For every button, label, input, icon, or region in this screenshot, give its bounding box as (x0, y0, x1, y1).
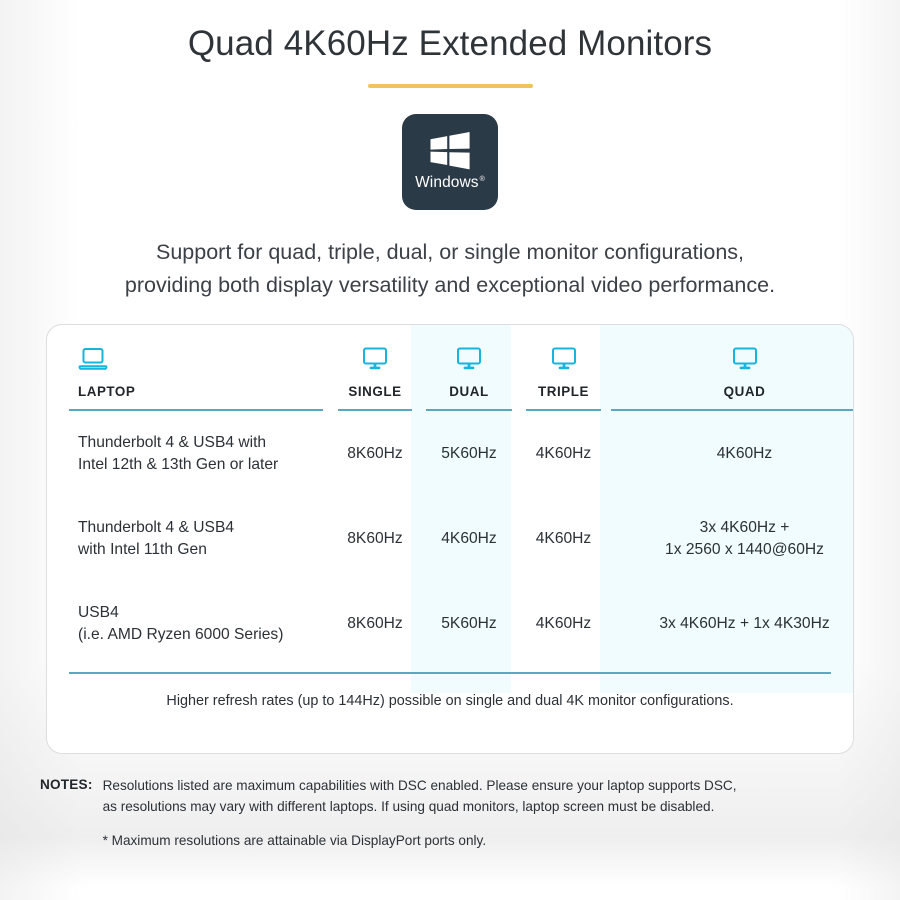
table-header: LAPTOP (69, 347, 854, 411)
row-1-quad-line-2: 1x 2560 x 1440@60Hz (610, 539, 854, 561)
table-footnote: Higher refresh rates (up to 144Hz) possi… (69, 674, 831, 711)
page-title: Quad 4K60Hz Extended Monitors (0, 0, 900, 65)
trademark-mark: ® (480, 176, 485, 183)
notes-line-2: as resolutions may vary with different l… (103, 797, 854, 818)
row-0-quad-cell: 4K60Hz (608, 411, 854, 496)
row-0-triple-cell: 4K60Hz (519, 411, 608, 496)
row-2-dual-cell: 5K60Hz (419, 581, 519, 666)
table-row: USB4 (i.e. AMD Ryzen 6000 Series) 8K60Hz… (69, 581, 854, 666)
column-header-dual: DUAL (419, 347, 519, 411)
column-header-triple-label: TRIPLE (538, 384, 589, 399)
row-2-laptop-line-1: USB4 (78, 602, 325, 624)
notes-line-3: * Maximum resolutions are attainable via… (103, 831, 854, 851)
compatibility-card: LAPTOP (46, 324, 854, 754)
table-header-row: LAPTOP (69, 347, 854, 411)
column-header-quad-label: QUAD (724, 384, 766, 399)
table-row: Thunderbolt 4 & USB4 with Intel 11th Gen… (69, 496, 854, 581)
column-header-triple: TRIPLE (519, 347, 608, 411)
row-2-quad-cell: 3x 4K60Hz + 1x 4K30Hz (608, 581, 854, 666)
row-1-quad-cell: 3x 4K60Hz + 1x 2560 x 1440@60Hz (608, 496, 854, 581)
compatibility-table: LAPTOP (69, 347, 854, 666)
row-1-laptop-line-2: with Intel 11th Gen (78, 539, 325, 561)
os-badge-wrap: Windows® (0, 114, 900, 210)
row-0-dual-cell: 5K60Hz (419, 411, 519, 496)
notes-body: Resolutions listed are maximum capabilit… (103, 776, 854, 851)
notes-block: NOTES: Resolutions listed are maximum ca… (40, 776, 854, 851)
column-header-dual-label: DUAL (449, 384, 488, 399)
column-header-laptop-label: LAPTOP (78, 384, 135, 399)
row-0-laptop-cell: Thunderbolt 4 & USB4 with Intel 12th & 1… (69, 411, 331, 496)
monitor-icon (455, 347, 483, 376)
infographic-page: Quad 4K60Hz Extended Monitors Windows® (0, 0, 900, 900)
row-2-triple-cell: 4K60Hz (519, 581, 608, 666)
row-0-laptop-line-2: Intel 12th & 13th Gen or later (78, 454, 325, 476)
notes-label: NOTES: (40, 776, 93, 792)
row-2-single-cell: 8K60Hz (331, 581, 419, 666)
monitor-icon (731, 347, 759, 376)
row-1-single-cell: 8K60Hz (331, 496, 419, 581)
laptop-icon (78, 347, 108, 376)
column-header-single: SINGLE (331, 347, 419, 411)
row-1-laptop-cell: Thunderbolt 4 & USB4 with Intel 11th Gen (69, 496, 331, 581)
windows-badge: Windows® (402, 114, 498, 210)
compatibility-table-wrap: LAPTOP (47, 325, 853, 666)
column-header-quad: QUAD (608, 347, 854, 411)
row-0-laptop-line-1: Thunderbolt 4 & USB4 with (78, 432, 325, 454)
table-body: Thunderbolt 4 & USB4 with Intel 12th & 1… (69, 411, 854, 666)
subtitle-line-2: providing both display versatility and e… (125, 273, 775, 297)
row-1-dual-cell: 4K60Hz (419, 496, 519, 581)
card-footnote-area: Higher refresh rates (up to 144Hz) possi… (69, 672, 831, 711)
monitor-icon (361, 347, 389, 376)
notes-line-1: Resolutions listed are maximum capabilit… (103, 776, 854, 797)
monitor-icon (550, 347, 578, 376)
row-2-laptop-line-2: (i.e. AMD Ryzen 6000 Series) (78, 624, 325, 646)
row-0-single-cell: 8K60Hz (331, 411, 419, 496)
table-row: Thunderbolt 4 & USB4 with Intel 12th & 1… (69, 411, 854, 496)
os-badge-label: Windows® (415, 174, 485, 192)
subtitle-line-1: Support for quad, triple, dual, or singl… (156, 240, 744, 264)
row-1-triple-cell: 4K60Hz (519, 496, 608, 581)
row-1-quad-line-1: 3x 4K60Hz + (610, 517, 854, 539)
row-1-laptop-line-1: Thunderbolt 4 & USB4 (78, 517, 325, 539)
column-header-single-label: SINGLE (348, 384, 401, 399)
page-subtitle: Support for quad, triple, dual, or singl… (0, 236, 900, 301)
column-header-laptop: LAPTOP (69, 347, 331, 411)
title-accent-rule (368, 84, 533, 88)
row-2-laptop-cell: USB4 (i.e. AMD Ryzen 6000 Series) (69, 581, 331, 666)
windows-logo-icon (429, 132, 471, 170)
